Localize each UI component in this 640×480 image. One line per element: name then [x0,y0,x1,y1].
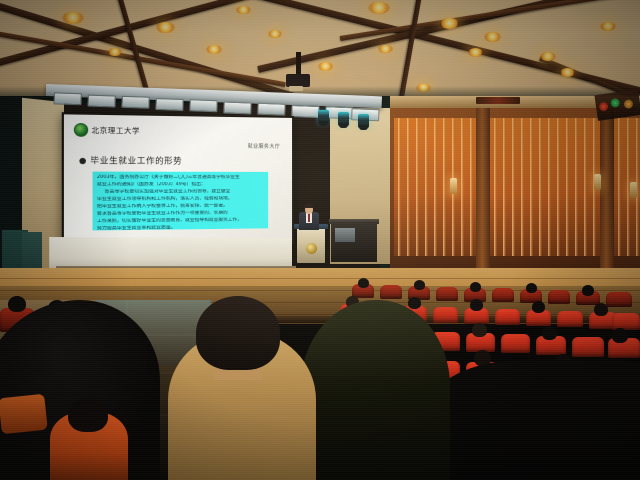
ceiling-light [206,45,222,54]
spotlight [338,112,349,126]
auditorium-seat [612,313,640,330]
rig-lamp-amber [623,99,633,109]
slide-logo: 北京理工大学 [74,123,140,137]
truss-fixture [291,105,319,118]
university-logo-icon [74,123,88,137]
audience-head [542,326,557,340]
auditorium-seat [572,337,604,357]
slide-body-line: 就业工作的通知》（国办发〔2003〕49号）指出： [97,182,264,188]
spotlight [358,114,369,128]
auditorium-seat [557,311,583,327]
curtain-wall [390,104,640,276]
slide-logo-text: 北京理工大学 [91,125,140,136]
slide-heading: 毕业生就业工作的形势 [79,155,182,167]
ceiling-light [156,22,175,33]
audience-head [532,301,545,313]
slide-corner-text: 就业服务大厅 [248,143,281,150]
truss-fixture [155,98,183,111]
auditorium-photo: 北京理工大学 就业服务大厅 毕业生就业工作的形势 2003年，国务院办公厅《关于… [0,0,640,480]
university-emblem-icon [306,243,317,254]
speaker-hair [304,203,314,208]
ceiling-light [560,68,575,77]
audience-head [408,297,421,309]
presentation-slide: 北京理工大学 就业服务大厅 毕业生就业工作的形势 2003年，国务院办公厅《关于… [64,114,292,245]
audience-head [594,303,608,316]
ceiling-light [368,2,390,14]
audience-head [358,278,369,288]
truss-fixture [223,102,251,115]
speaker-tie [308,214,310,222]
truss-fixture [121,96,149,109]
ceiling-light [62,12,84,24]
ceiling-light [268,30,282,38]
slide-body-line: 毕业生就业工作领导机构和工作机构，落实人员、经费和场地， [97,196,264,203]
audience-head [414,280,425,290]
wall-sconce [594,174,601,190]
ceiling-light [540,52,556,61]
rig-lamp-green [610,98,620,108]
truss-fixture [87,95,115,108]
auditorium-seat [380,285,402,299]
ceiling-light [468,48,483,57]
auditorium-seat [433,307,458,323]
auditorium-seat [495,309,520,325]
ceiling-light [440,18,459,29]
audience-head [612,328,628,343]
foreground-attendee-dark-green [300,300,450,480]
ceiling-light [378,45,393,53]
audience-head [582,285,594,296]
slide-heading-text: 毕业生就业工作的形势 [90,155,182,167]
projection-screen: 北京理工大学 就业服务大厅 毕业生就业工作的形势 2003年，国务院办公厅《关于… [62,112,294,248]
spotlight [318,110,329,124]
curtain-pillar [600,104,614,276]
bullet-icon [79,157,86,163]
ceiling-light [600,22,616,31]
auditorium-seat [436,287,458,301]
audience-head [470,282,481,292]
ceiling-light [318,62,333,71]
projector-lens [289,86,303,91]
audience-head [470,299,483,311]
audience-head [472,323,487,337]
truss-fixture [189,99,217,112]
slide-highlight-box: 2003年，国务院办公厅《关于做好二〇〇三年普通高等学校毕业生 就业工作的通知》… [93,172,269,231]
truss-fixture [257,103,285,116]
slide-body-line: 各高等学校要切实加强对毕业生就业工作的领导，建立健全 [97,189,264,196]
audience-head [526,283,537,293]
foreground-attendee-orange-shoulder [0,394,48,435]
slide-body-line: 2003年，国务院办公厅《关于做好二〇〇三年普通高等学校毕业生 [97,175,264,181]
curtain-pillar [476,104,490,276]
curtain-panel [394,118,476,256]
ceiling-light [108,48,122,56]
rig-lamp-red [598,101,608,111]
slide-body-line: 把毕业生就业工作纳入学校整体工作，统筹安排、统一部署。 [97,203,264,210]
audience-head [8,296,26,312]
foreground-attendee-head [196,296,280,370]
ceiling-light [484,32,501,42]
wall-sign [476,97,520,104]
truss-fixture [53,92,81,105]
curtain-panel [490,118,600,256]
slide-body-line: 努力提高毕业生就业率和就业质量。 [97,224,264,230]
auditorium-seat [492,288,514,302]
wall-sconce [450,178,457,194]
stage-equipment-panel [335,228,355,242]
auditorium-seat [548,290,570,304]
foreground-attendee-silhouette-right [430,360,640,480]
wall-sconce [630,182,637,198]
foreground-attendee-orange-head [68,398,108,432]
auditorium-seat [501,334,530,353]
ceiling-light [236,6,251,14]
auditorium-seat [606,292,632,307]
